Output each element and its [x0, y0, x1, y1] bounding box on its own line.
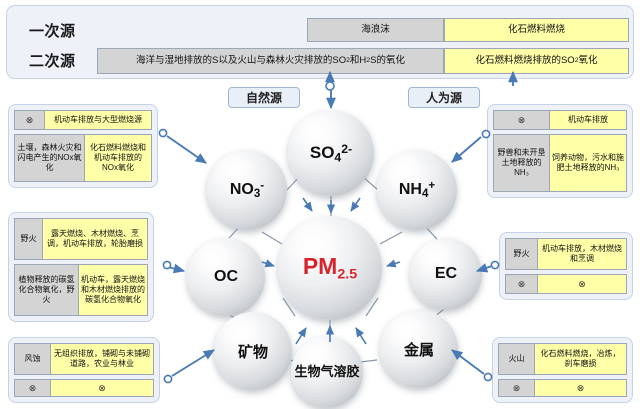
- diagram-root: 一次源 二次源 海浪沫 化石燃料燃烧 海洋与湿地排放的S以及火山与森林火灾排放的…: [0, 0, 640, 409]
- sphere-pm25-center: PM2.5: [278, 216, 382, 320]
- source-arrows: [0, 0, 640, 409]
- sphere-pm25-label: PM2.5: [303, 253, 357, 282]
